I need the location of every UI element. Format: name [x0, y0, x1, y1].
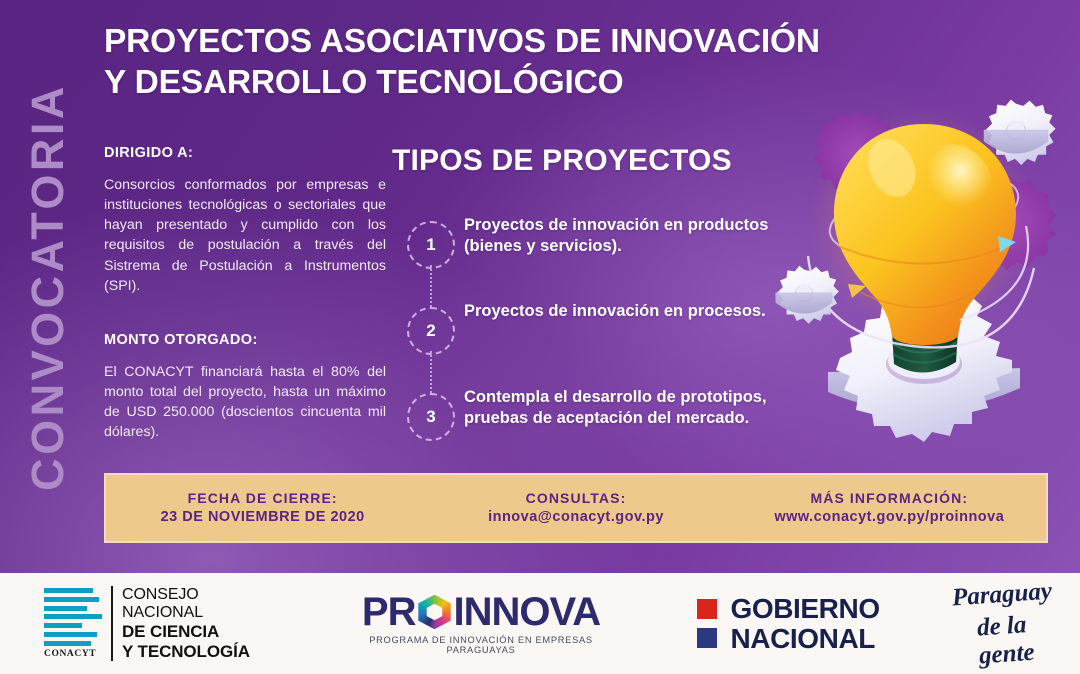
- conacyt-bar: [44, 597, 99, 602]
- conacyt-logo: CONACYT CONSEJO NACIONAL DE CIENCIA Y TE…: [44, 586, 269, 661]
- step-number-badge: 1: [407, 221, 455, 269]
- conacyt-bar: [44, 606, 87, 611]
- conacyt-bars-icon: [44, 588, 104, 646]
- conacyt-text-block: CONSEJO NACIONAL DE CIENCIA Y TECNOLOGÍA: [111, 586, 269, 661]
- list-item: 2 Proyectos de innovación en procesos.: [398, 291, 798, 377]
- mas-informacion-url[interactable]: www.conacyt.gov.py/proinnova: [733, 508, 1046, 528]
- conacyt-mark-wrapper: CONACYT: [44, 588, 104, 659]
- proinnova-post-text: INNOVA: [454, 592, 601, 632]
- dirigido-a-heading: DIRIGIDO A:: [104, 145, 386, 161]
- step-number-badge: 3: [407, 393, 455, 441]
- conacyt-bar: [44, 632, 97, 637]
- step-connector-line: [430, 265, 432, 307]
- proinnova-logo: PR INNOVA PROGRAMA DE INNOVACIÓN EN EMPR…: [343, 592, 620, 655]
- step-connector-line: [430, 351, 432, 393]
- footer-logo-bar: CONACYT CONSEJO NACIONAL DE CIENCIA Y TE…: [0, 573, 1080, 674]
- fecha-de-cierre-value: 23 DE NOVIEMBRE DE 2020: [106, 508, 419, 528]
- red-square-icon: [697, 599, 717, 619]
- proinnova-hexagon-icon: [417, 594, 453, 630]
- project-type-text: Proyectos de innovación en procesos.: [464, 291, 798, 322]
- paraguay-de-la-gente-logo: Paraguay de la gente: [952, 581, 1080, 667]
- consultas-email[interactable]: innova@conacyt.gov.py: [419, 508, 732, 528]
- orbit-arrow-yellow: [848, 284, 866, 298]
- conacyt-line-2: DE CIENCIA: [122, 622, 269, 641]
- list-item: 1 Proyectos de innovación en productos (…: [398, 205, 798, 291]
- monto-otorgado-body: El CONACYT financiará hasta el 80% del m…: [104, 362, 386, 443]
- proinnova-wordmark: PR INNOVA: [343, 592, 620, 632]
- proinnova-pre-text: PR: [362, 592, 416, 632]
- title-line-1: PROYECTOS ASOCIATIVOS DE INNOVACIÓN: [104, 22, 864, 63]
- illustration-svg: [772, 96, 1072, 456]
- project-type-text: Proyectos de innovación en productos (bi…: [464, 205, 798, 258]
- conacyt-bar: [44, 623, 82, 628]
- dirigido-a-body: Consorcios conformados por empresas e in…: [104, 175, 386, 296]
- page-title: PROYECTOS ASOCIATIVOS DE INNOVACIÓN Y DE…: [104, 22, 864, 104]
- column-spacer: [104, 296, 386, 332]
- poster-root: CONVOCATORIA PROYECTOS ASOCIATIVOS DE IN…: [0, 0, 1080, 674]
- tipos-de-proyectos-heading: TIPOS DE PROYECTOS: [392, 144, 732, 178]
- lightbulb-gears-illustration: [772, 96, 1072, 456]
- paraguay-script-wrapper: Paraguay de la gente: [952, 581, 1080, 667]
- info-banner: FECHA DE CIERRE: 23 DE NOVIEMBRE DE 2020…: [104, 473, 1048, 543]
- convocatoria-band: CONVOCATORIA: [0, 0, 96, 573]
- paraguay-line-2: de la gente: [976, 607, 1080, 670]
- conacyt-bar: [44, 588, 93, 593]
- gobierno-line-2: NACIONAL: [730, 624, 879, 653]
- main-purple-panel: CONVOCATORIA PROYECTOS ASOCIATIVOS DE IN…: [0, 0, 1080, 573]
- gobierno-squares-icon: [697, 599, 717, 648]
- consultas-label: CONSULTAS:: [419, 489, 732, 508]
- convocatoria-vertical-label: CONVOCATORIA: [22, 83, 74, 491]
- conacyt-wordmark: CONACYT: [44, 649, 104, 659]
- project-type-text: Contempla el desarrollo de prototipos, p…: [464, 377, 798, 430]
- conacyt-bar: [44, 614, 102, 619]
- list-item: 3 Contempla el desarrollo de prototipos,…: [398, 377, 798, 463]
- blue-square-icon: [697, 628, 717, 648]
- gobierno-nacional-logo: GOBIERNO NACIONAL: [697, 594, 879, 653]
- gobierno-line-1: GOBIERNO: [730, 594, 879, 623]
- fecha-de-cierre-label: FECHA DE CIERRE:: [106, 489, 419, 508]
- banner-cell-fecha: FECHA DE CIERRE: 23 DE NOVIEMBRE DE 2020: [106, 489, 419, 528]
- banner-cell-mas-informacion: MÁS INFORMACIÓN: www.conacyt.gov.py/proi…: [733, 489, 1046, 528]
- project-types-list: 1 Proyectos de innovación en productos (…: [398, 205, 798, 463]
- conacyt-bar: [44, 641, 91, 646]
- paraguay-line-2-wrapper: de la gente: [952, 609, 1080, 667]
- conacyt-line-3: Y TECNOLOGÍA: [122, 642, 269, 661]
- paraguay-line-1: Paraguay: [951, 577, 1053, 612]
- gobierno-wordmark: GOBIERNO NACIONAL: [730, 594, 879, 653]
- step-marker-column: 1: [398, 205, 464, 269]
- left-info-column: DIRIGIDO A: Consorcios conformados por e…: [104, 145, 386, 443]
- lightbulb-icon: [834, 124, 1016, 345]
- mas-informacion-label: MÁS INFORMACIÓN:: [733, 489, 1046, 508]
- conacyt-line-1: CONSEJO NACIONAL: [122, 586, 269, 622]
- small-gear-icon: [775, 266, 838, 324]
- proinnova-tagline: PROGRAMA DE INNOVACIÓN EN EMPRESAS PARAG…: [343, 635, 620, 655]
- title-line-2: Y DESARROLLO TECNOLÓGICO: [104, 63, 864, 104]
- paraguay-line-1-wrapper: Paraguay: [952, 581, 1080, 609]
- step-number-badge: 2: [407, 307, 455, 355]
- monto-otorgado-heading: MONTO OTORGADO:: [104, 332, 386, 348]
- banner-cell-consultas: CONSULTAS: innova@conacyt.gov.py: [419, 489, 732, 528]
- proinnova-wordmark-wrapper: PR INNOVA PROGRAMA DE INNOVACIÓN EN EMPR…: [343, 592, 620, 655]
